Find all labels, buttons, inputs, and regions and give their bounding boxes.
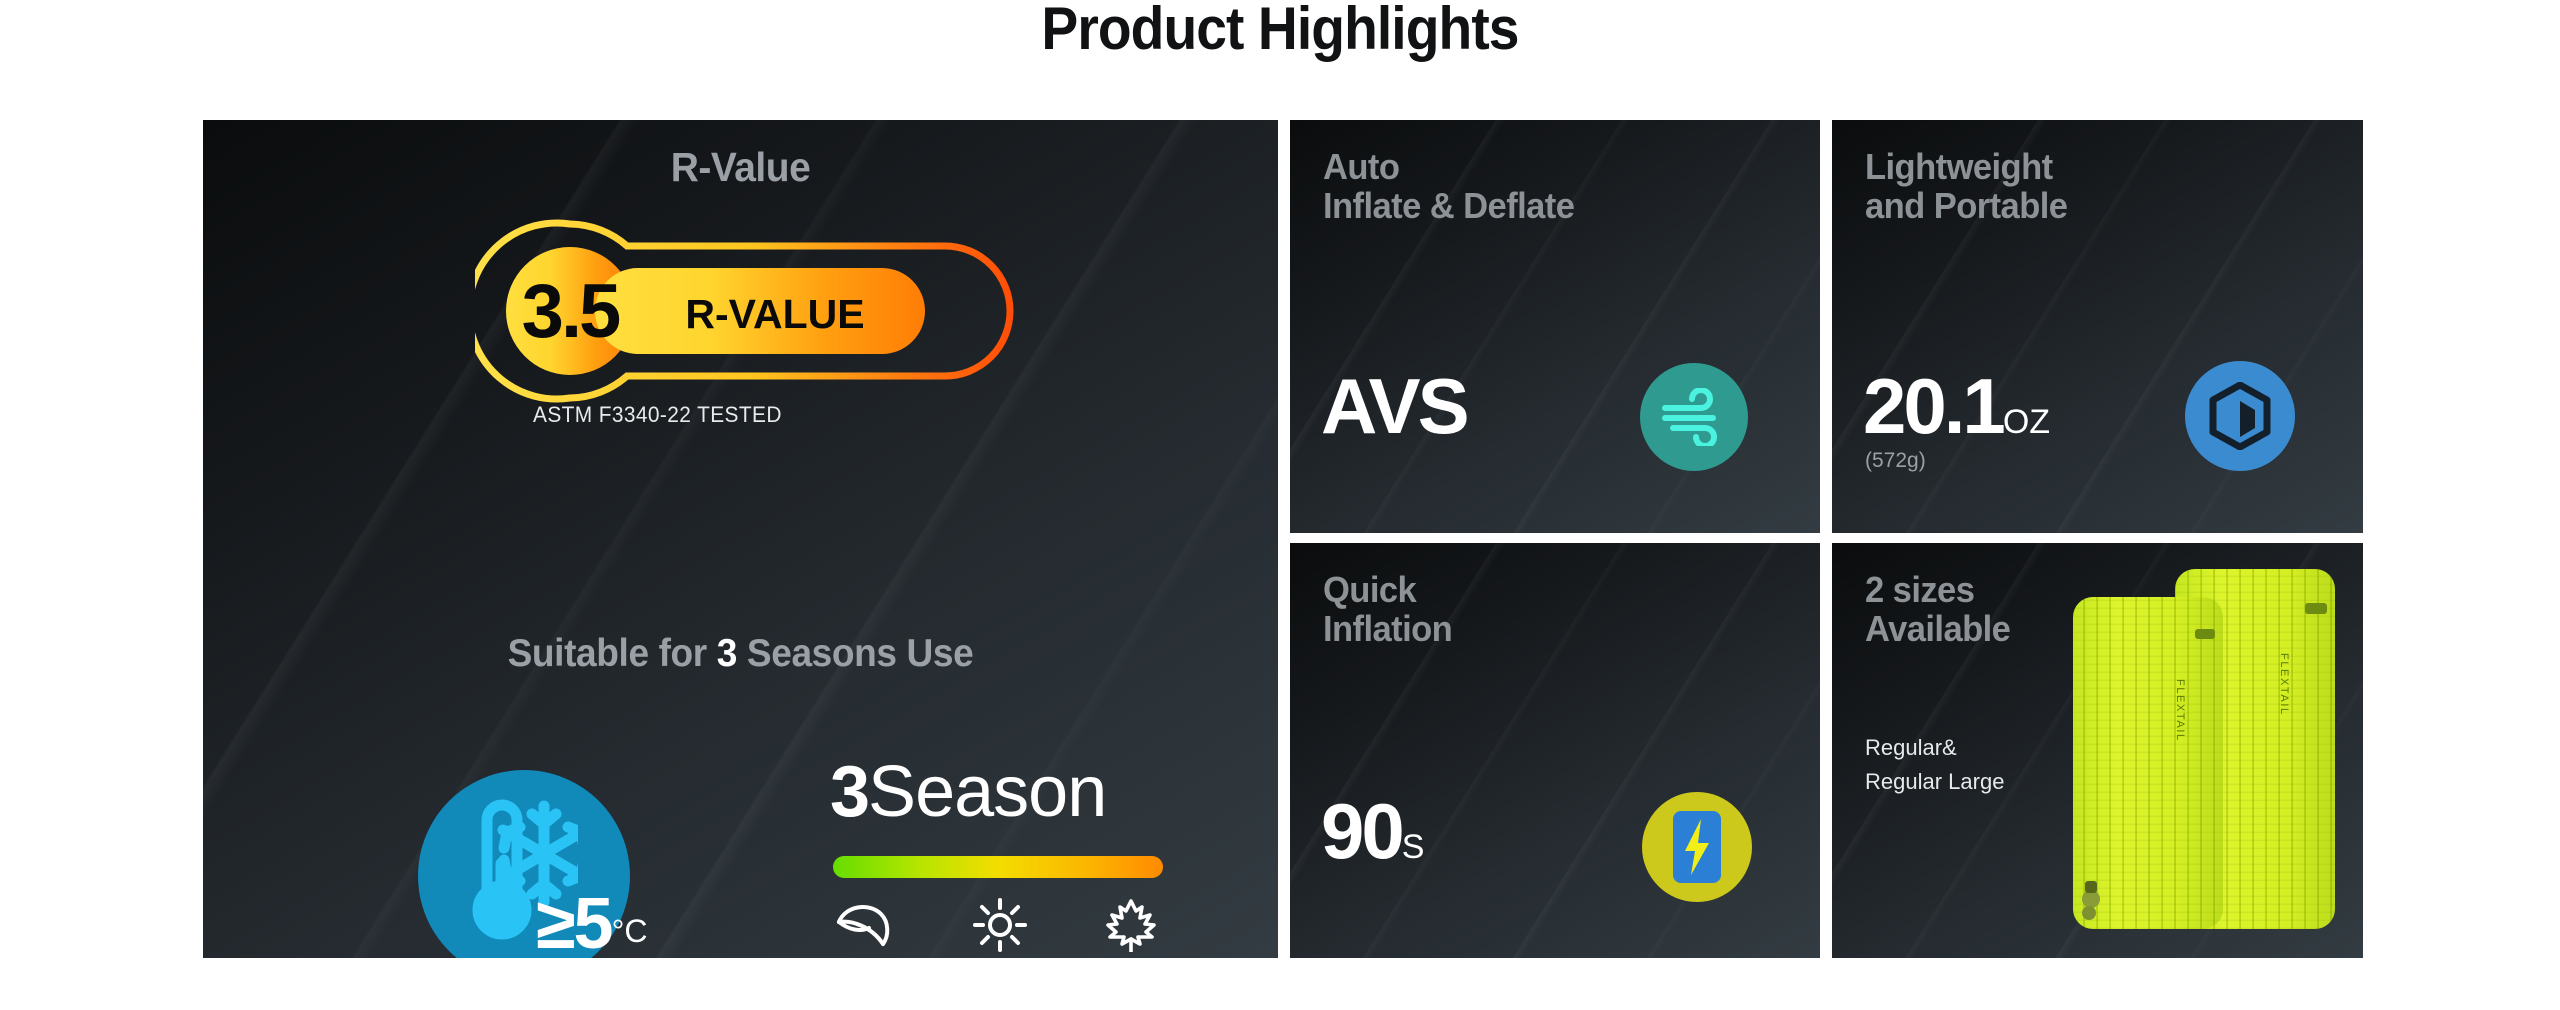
card-title-line2: Inflation: [1323, 610, 1452, 649]
card-title: 2 sizes Available: [1865, 571, 2010, 649]
r-value-badge: 3.5 R-VALUE: [475, 216, 1035, 406]
card-title: Quick Inflation: [1323, 571, 1452, 649]
season-block: 3Season: [833, 756, 1163, 952]
card-subtext-line1: Regular&: [1865, 731, 2004, 765]
product-highlights-page: Product Highlights R-Value: [0, 0, 2560, 1010]
card-auto-inflate-deflate: Auto Inflate & Deflate AVS: [1290, 120, 1820, 533]
card-title-line1: Quick: [1323, 571, 1452, 610]
card-lightweight-portable: Lightweight and Portable 20.1OZ (572g): [1832, 120, 2363, 533]
card-subtext: (572g): [1865, 449, 1926, 473]
card-title: Lightweight and Portable: [1865, 148, 2067, 226]
card-metric: AVS: [1321, 367, 1467, 445]
card-title-line1: Auto: [1323, 148, 1574, 187]
card-metric-value: 90: [1321, 787, 1402, 875]
sleeping-pads-image: FLEXTAIL FLEXTAIL: [2059, 561, 2349, 941]
card-metric: 20.1OZ: [1863, 367, 2050, 445]
card-two-sizes: 2 sizes Available Regular& Regular Large: [1832, 543, 2363, 958]
pad-brand-label: FLEXTAIL: [2278, 653, 2290, 716]
certification-text: ASTM F3340-22 TESTED: [533, 402, 1065, 428]
temperature-rating: ≥5°C: [536, 888, 647, 958]
icon-circle: [1642, 792, 1752, 902]
icon-circle: [2185, 361, 2295, 471]
card-metric-unit: OZ: [2003, 403, 2050, 441]
highlights-grid: R-Value: [203, 120, 2363, 958]
card-title: Auto Inflate & Deflate: [1323, 148, 1574, 226]
temperature-value: ≥5: [536, 884, 612, 958]
pad-regular: FLEXTAIL: [2073, 597, 2223, 929]
season-title: 3Season: [830, 756, 1163, 828]
cube-box-icon: [2209, 382, 2271, 450]
seasons-heading-number: 3: [717, 632, 737, 675]
card-metric: 90S: [1321, 792, 1424, 870]
seasons-heading-post: Seasons Use: [737, 632, 973, 675]
card-subtext-line2: Regular Large: [1865, 765, 2004, 799]
badge-value: 3.5: [522, 269, 620, 354]
autumn-maple-leaf-icon: [1105, 898, 1157, 952]
season-gradient-bar: [833, 856, 1163, 878]
temperature-unit: °C: [612, 913, 648, 949]
season-number: 3: [830, 752, 868, 832]
card-title-line1: 2 sizes: [1865, 571, 2010, 610]
icon-circle: [1640, 363, 1748, 471]
card-metric-value: 20.1: [1863, 362, 2003, 450]
page-title: Product Highlights: [102, 0, 2457, 63]
season-icon-row: [833, 898, 1163, 952]
r-value-panel: R-Value: [203, 120, 1278, 958]
card-title-line2: and Portable: [1865, 187, 2067, 226]
season-word: Season: [868, 752, 1106, 832]
badge-label: R-VALUE: [685, 291, 864, 337]
wind-icon: [1661, 388, 1727, 446]
spring-leaf-icon: [835, 898, 893, 952]
card-subtext: Regular& Regular Large: [1865, 731, 2004, 799]
card-title-line1: Lightweight: [1865, 148, 2067, 187]
seasons-heading-pre: Suitable for: [508, 632, 717, 675]
card-title-line2: Inflate & Deflate: [1323, 187, 1574, 226]
card-metric-unit: S: [1402, 828, 1425, 866]
seasons-heading: Suitable for 3 Seasons Use: [230, 632, 1251, 676]
pad-brand-label: FLEXTAIL: [2174, 679, 2186, 742]
card-title-line2: Available: [1865, 610, 2010, 649]
battery-bolt-icon: [1671, 809, 1723, 885]
r-value-heading: R-Value: [230, 144, 1251, 191]
card-quick-inflation: Quick Inflation 90S: [1290, 543, 1820, 958]
summer-sun-icon: [973, 898, 1027, 952]
